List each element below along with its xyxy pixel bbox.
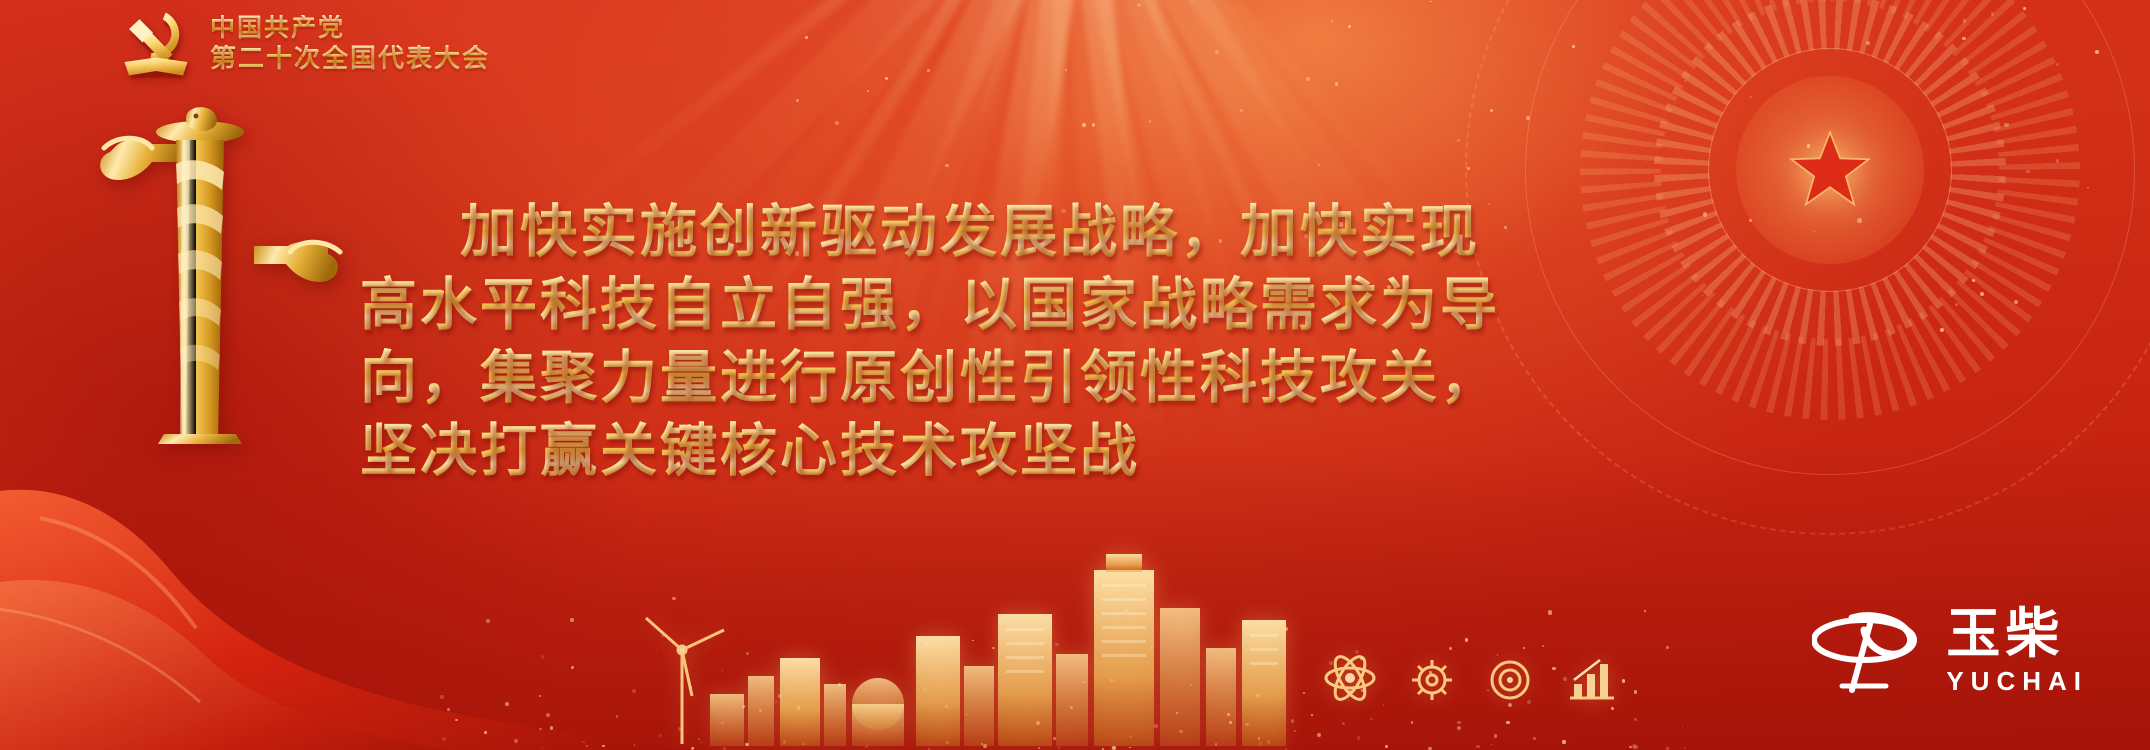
huabiao-column-icon (92, 104, 352, 444)
yuchai-logo-chinese: 玉柴 (1946, 607, 2064, 661)
congress-banner: 中国共产党 第二十次全国代表大会 (0, 0, 2150, 750)
hammer-sickle-emblem-icon (118, 8, 194, 80)
yuchai-logo: 玉柴 YUCHAI (1812, 602, 2088, 698)
yuchai-ellipse-mark-icon (1812, 602, 1930, 698)
bar-chart-icon (1570, 660, 1614, 698)
slogan-block: 加快实施创新驱动发展战略，加快实现 高水平科技自立自强，以国家战略需求为导 向，… (360, 196, 1600, 488)
gear-icon (1412, 660, 1452, 700)
congress-title-line2: 第二十次全国代表大会 (210, 45, 490, 73)
gold-particles (440, 560, 1690, 750)
congress-title-line1: 中国共产党 (210, 15, 490, 42)
atom-icon (1326, 652, 1374, 704)
yuchai-logo-english: YUCHAI (1946, 668, 2088, 694)
red-star-icon (1778, 118, 1882, 222)
bottom-vignette (0, 450, 2150, 750)
slogan-line-1: 加快实施创新驱动发展战略，加快实现 (360, 196, 1600, 269)
slogan-line-2: 高水平科技自立自强，以国家战略需求为导 (360, 269, 1600, 342)
wind-turbine-icon (646, 618, 724, 744)
slogan-line-3: 向，集聚力量进行原创性引领性科技攻关， (360, 342, 1600, 415)
city-skyline-icon (560, 508, 1640, 748)
slogan-line-4: 坚决打赢关键核心技术攻坚战 (360, 415, 1600, 488)
target-icon (1492, 662, 1528, 698)
congress-header: 中国共产党 第二十次全国代表大会 (118, 8, 490, 80)
